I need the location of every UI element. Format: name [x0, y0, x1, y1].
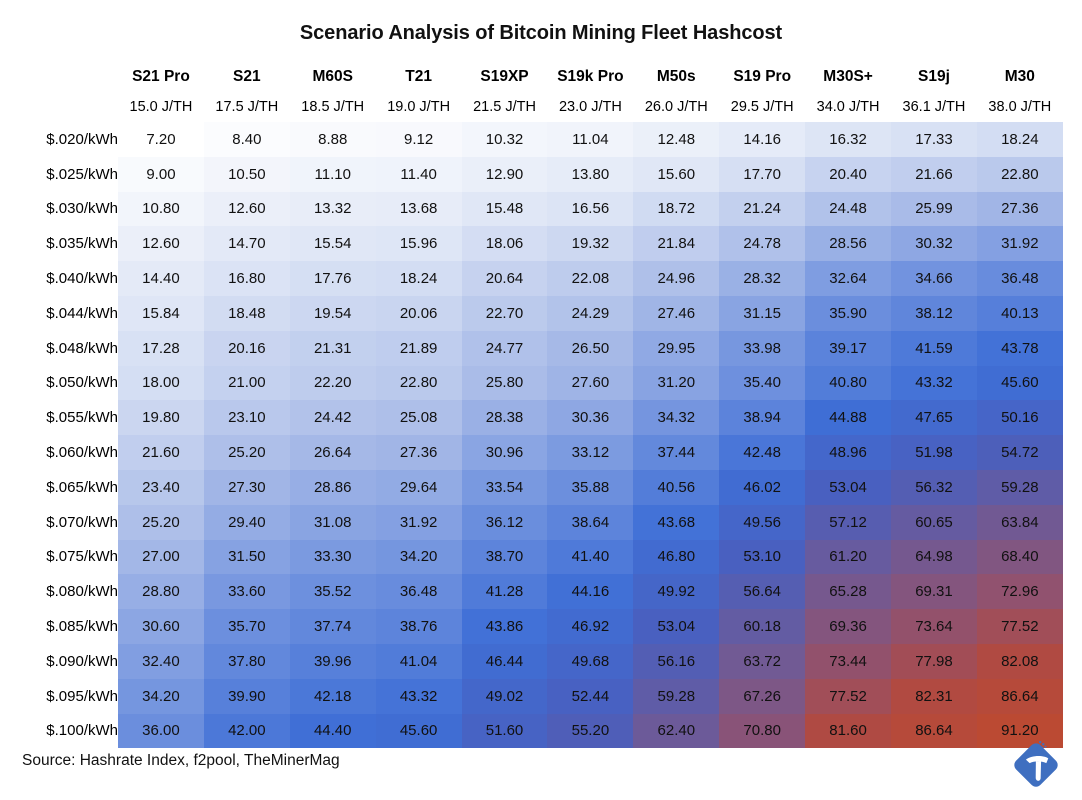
heatmap-cell: 16.56: [547, 192, 633, 227]
heatmap-cell: 31.92: [376, 505, 462, 540]
heatmap-cell: 21.84: [633, 226, 719, 261]
heatmap-cell: 42.18: [290, 679, 376, 714]
heatmap-cell: 43.32: [376, 679, 462, 714]
heatmap-cell: 81.60: [805, 714, 891, 749]
theminermag-logo: [1010, 738, 1062, 790]
heatmap-cell: 63.72: [719, 644, 805, 679]
heatmap-cell: 31.50: [204, 540, 290, 575]
row-header-power-price: $.075/kWh: [0, 540, 118, 575]
heatmap-cell: 30.96: [462, 435, 548, 470]
heatmap-cell: 43.86: [462, 609, 548, 644]
heatmap-cell: 38.76: [376, 609, 462, 644]
heatmap-cell: 22.80: [977, 157, 1063, 192]
heatmap-cell: 17.28: [118, 331, 204, 366]
heatmap-cell: 24.96: [633, 261, 719, 296]
column-header-efficiency: 34.0 J/TH: [805, 92, 891, 122]
heatmap-cell: 15.96: [376, 226, 462, 261]
heatmap-cell: 24.29: [547, 296, 633, 331]
heatmap-cell: 35.88: [547, 470, 633, 505]
page-title: Scenario Analysis of Bitcoin Mining Flee…: [0, 22, 1082, 45]
heatmap-cell: 17.76: [290, 261, 376, 296]
heatmap-cell: 33.54: [462, 470, 548, 505]
row-header-power-price: $.040/kWh: [0, 261, 118, 296]
heatmap-cell: 43.78: [977, 331, 1063, 366]
heatmap-cell: 82.31: [891, 679, 977, 714]
heatmap-cell: 15.54: [290, 226, 376, 261]
heatmap-cell: 7.20: [118, 122, 204, 157]
heatmap-cell: 65.28: [805, 574, 891, 609]
heatmap-cell: 28.38: [462, 400, 548, 435]
heatmap-cell: 35.70: [204, 609, 290, 644]
column-header-efficiency: 15.0 J/TH: [118, 92, 204, 122]
table-row: $.090/kWh32.4037.8039.9641.0446.4449.685…: [0, 644, 1063, 679]
column-header-efficiency: 38.0 J/TH: [977, 92, 1063, 122]
table-body: $.020/kWh7.208.408.889.1210.3211.0412.48…: [0, 122, 1063, 748]
heatmap-cell: 61.20: [805, 540, 891, 575]
heatmap-cell: 14.16: [719, 122, 805, 157]
heatmap-cell: 73.64: [891, 609, 977, 644]
heatmap-cell: 50.16: [977, 400, 1063, 435]
heatmap-cell: 19.80: [118, 400, 204, 435]
row-header-power-price: $.035/kWh: [0, 226, 118, 261]
column-header-efficiency: 23.0 J/TH: [547, 92, 633, 122]
source-note: Source: Hashrate Index, f2pool, TheMiner…: [22, 752, 340, 770]
heatmap-cell: 47.65: [891, 400, 977, 435]
heatmap-cell: 33.30: [290, 540, 376, 575]
heatmap-cell: 56.64: [719, 574, 805, 609]
column-header-model: M30: [977, 62, 1063, 92]
heatmap-cell: 22.80: [376, 366, 462, 401]
table-row: $.070/kWh25.2029.4031.0831.9236.1238.644…: [0, 505, 1063, 540]
heatmap-page: Scenario Analysis of Bitcoin Mining Flee…: [0, 0, 1082, 800]
heatmap-cell: 40.13: [977, 296, 1063, 331]
heatmap-cell: 21.89: [376, 331, 462, 366]
heatmap-cell: 11.40: [376, 157, 462, 192]
heatmap-cell: 41.28: [462, 574, 548, 609]
heatmap-cell: 29.95: [633, 331, 719, 366]
heatmap-cell: 34.20: [376, 540, 462, 575]
heatmap-cell: 24.42: [290, 400, 376, 435]
header-corner-cell: [0, 62, 118, 92]
heatmap-cell: 23.40: [118, 470, 204, 505]
heatmap-cell: 20.06: [376, 296, 462, 331]
heatmap-cell: 18.24: [376, 261, 462, 296]
heatmap-cell: 77.52: [977, 609, 1063, 644]
heatmap-cell: 13.32: [290, 192, 376, 227]
heatmap-cell: 63.84: [977, 505, 1063, 540]
table-row: $.050/kWh18.0021.0022.2022.8025.8027.603…: [0, 366, 1063, 401]
row-header-power-price: $.020/kWh: [0, 122, 118, 157]
heatmap-cell: 41.04: [376, 644, 462, 679]
column-header-model: S19XP: [462, 62, 548, 92]
heatmap-cell: 30.60: [118, 609, 204, 644]
heatmap-cell: 37.80: [204, 644, 290, 679]
table-header: S21 ProS21M60ST21S19XPS19k ProM50sS19 Pr…: [0, 62, 1063, 122]
heatmap-cell: 25.08: [376, 400, 462, 435]
heatmap-cell: 31.20: [633, 366, 719, 401]
heatmap-cell: 15.84: [118, 296, 204, 331]
column-header-efficiency: 36.1 J/TH: [891, 92, 977, 122]
heatmap-cell: 56.32: [891, 470, 977, 505]
heatmap-cell: 46.44: [462, 644, 548, 679]
column-header-model: M50s: [633, 62, 719, 92]
header-row-models: S21 ProS21M60ST21S19XPS19k ProM50sS19 Pr…: [0, 62, 1063, 92]
row-header-power-price: $.050/kWh: [0, 366, 118, 401]
row-header-power-price: $.044/kWh: [0, 296, 118, 331]
heatmap-cell: 62.40: [633, 714, 719, 749]
column-header-model: T21: [376, 62, 462, 92]
heatmap-cell: 9.00: [118, 157, 204, 192]
heatmap-cell: 73.44: [805, 644, 891, 679]
heatmap-cell: 13.68: [376, 192, 462, 227]
table-row: $.095/kWh34.2039.9042.1843.3249.0252.445…: [0, 679, 1063, 714]
heatmap-cell: 45.60: [376, 714, 462, 749]
heatmap-cell: 12.60: [118, 226, 204, 261]
heatmap-cell: 31.15: [719, 296, 805, 331]
heatmap-cell: 22.08: [547, 261, 633, 296]
heatmap-cell: 30.36: [547, 400, 633, 435]
heatmap-cell: 21.00: [204, 366, 290, 401]
row-header-power-price: $.095/kWh: [0, 679, 118, 714]
heatmap-cell: 39.90: [204, 679, 290, 714]
column-header-model: S21 Pro: [118, 62, 204, 92]
heatmap-cell: 27.46: [633, 296, 719, 331]
column-header-efficiency: 29.5 J/TH: [719, 92, 805, 122]
heatmap-cell: 32.64: [805, 261, 891, 296]
heatmap-cell: 40.80: [805, 366, 891, 401]
heatmap-cell: 33.98: [719, 331, 805, 366]
heatmap-cell: 20.16: [204, 331, 290, 366]
heatmap-cell: 48.96: [805, 435, 891, 470]
heatmap-cell: 72.96: [977, 574, 1063, 609]
row-header-power-price: $.025/kWh: [0, 157, 118, 192]
table-row: $.025/kWh9.0010.5011.1011.4012.9013.8015…: [0, 157, 1063, 192]
heatmap-cell: 24.48: [805, 192, 891, 227]
row-header-power-price: $.080/kWh: [0, 574, 118, 609]
heatmap-cell: 82.08: [977, 644, 1063, 679]
column-header-model: S21: [204, 62, 290, 92]
row-header-power-price: $.030/kWh: [0, 192, 118, 227]
heatmap-cell: 21.24: [719, 192, 805, 227]
heatmap-cell: 39.17: [805, 331, 891, 366]
heatmap-cell: 11.04: [547, 122, 633, 157]
heatmap-cell: 49.68: [547, 644, 633, 679]
heatmap-cell: 8.40: [204, 122, 290, 157]
heatmap-cell: 35.90: [805, 296, 891, 331]
heatmap-cell: 16.32: [805, 122, 891, 157]
heatmap-cell: 22.70: [462, 296, 548, 331]
heatmap-cell: 36.48: [977, 261, 1063, 296]
table-row: $.065/kWh23.4027.3028.8629.6433.5435.884…: [0, 470, 1063, 505]
heatmap-cell: 38.94: [719, 400, 805, 435]
row-header-power-price: $.048/kWh: [0, 331, 118, 366]
heatmap-cell: 9.12: [376, 122, 462, 157]
heatmap-cell: 25.99: [891, 192, 977, 227]
heatmap-cell: 20.40: [805, 157, 891, 192]
heatmap-cell: 18.48: [204, 296, 290, 331]
heatmap-cell: 12.48: [633, 122, 719, 157]
heatmap-cell: 38.70: [462, 540, 548, 575]
heatmap-cell: 25.80: [462, 366, 548, 401]
heatmap-cell: 60.65: [891, 505, 977, 540]
heatmap-cell: 18.06: [462, 226, 548, 261]
heatmap-cell: 55.20: [547, 714, 633, 749]
table-row: $.100/kWh36.0042.0044.4045.6051.6055.206…: [0, 714, 1063, 749]
heatmap-cell: 38.64: [547, 505, 633, 540]
heatmap-cell: 60.18: [719, 609, 805, 644]
heatmap-cell: 69.31: [891, 574, 977, 609]
heatmap-cell: 41.40: [547, 540, 633, 575]
column-header-efficiency: 17.5 J/TH: [204, 92, 290, 122]
heatmap-cell: 14.70: [204, 226, 290, 261]
heatmap-cell: 67.26: [719, 679, 805, 714]
heatmap-cell: 59.28: [633, 679, 719, 714]
heatmap-cell: 18.00: [118, 366, 204, 401]
heatmap-cell: 53.04: [633, 609, 719, 644]
heatmap-cell: 41.59: [891, 331, 977, 366]
column-header-model: M60S: [290, 62, 376, 92]
row-header-power-price: $.090/kWh: [0, 644, 118, 679]
heatmap-cell: 49.02: [462, 679, 548, 714]
heatmap-cell: 10.80: [118, 192, 204, 227]
heatmap-cell: 10.32: [462, 122, 548, 157]
heatmap-cell: 25.20: [118, 505, 204, 540]
heatmap-cell: 8.88: [290, 122, 376, 157]
heatmap-cell: 28.32: [719, 261, 805, 296]
heatmap-cell: 26.64: [290, 435, 376, 470]
column-header-efficiency: 26.0 J/TH: [633, 92, 719, 122]
hashcost-heatmap-table: S21 ProS21M60ST21S19XPS19k ProM50sS19 Pr…: [0, 62, 1063, 748]
heatmap-cell: 43.68: [633, 505, 719, 540]
heatmap-cell: 27.60: [547, 366, 633, 401]
heatmap-cell: 29.40: [204, 505, 290, 540]
heatmap-cell: 39.96: [290, 644, 376, 679]
heatmap-cell: 37.74: [290, 609, 376, 644]
heatmap-cell: 13.80: [547, 157, 633, 192]
row-header-power-price: $.060/kWh: [0, 435, 118, 470]
heatmap-cell: 36.12: [462, 505, 548, 540]
heatmap-cell: 86.64: [977, 679, 1063, 714]
heatmap-cell: 53.10: [719, 540, 805, 575]
heatmap-cell: 27.36: [977, 192, 1063, 227]
heatmap-cell: 31.92: [977, 226, 1063, 261]
heatmap-cell: 25.20: [204, 435, 290, 470]
table-row: $.020/kWh7.208.408.889.1210.3211.0412.48…: [0, 122, 1063, 157]
heatmap-cell: 11.10: [290, 157, 376, 192]
heatmap-cell: 15.60: [633, 157, 719, 192]
heatmap-cell: 28.56: [805, 226, 891, 261]
heatmap-cell: 17.33: [891, 122, 977, 157]
heatmap-cell: 28.86: [290, 470, 376, 505]
row-header-power-price: $.065/kWh: [0, 470, 118, 505]
heatmap-cell: 69.36: [805, 609, 891, 644]
heatmap-cell: 33.60: [204, 574, 290, 609]
column-header-efficiency: 19.0 J/TH: [376, 92, 462, 122]
heatmap-cell: 21.60: [118, 435, 204, 470]
heatmap-cell: 57.12: [805, 505, 891, 540]
heatmap-cell: 33.12: [547, 435, 633, 470]
heatmap-cell: 68.40: [977, 540, 1063, 575]
heatmap-cell: 77.98: [891, 644, 977, 679]
heatmap-cell: 54.72: [977, 435, 1063, 470]
heatmap-cell: 26.50: [547, 331, 633, 366]
heatmap-cell: 46.02: [719, 470, 805, 505]
heatmap-cell: 22.20: [290, 366, 376, 401]
heatmap-cell: 35.40: [719, 366, 805, 401]
heatmap-cell: 32.40: [118, 644, 204, 679]
heatmap-cell: 46.92: [547, 609, 633, 644]
heatmap-cell: 21.31: [290, 331, 376, 366]
table-row: $.048/kWh17.2820.1621.3121.8924.7726.502…: [0, 331, 1063, 366]
table-row: $.075/kWh27.0031.5033.3034.2038.7041.404…: [0, 540, 1063, 575]
heatmap-cell: 38.12: [891, 296, 977, 331]
heatmap-cell: 53.04: [805, 470, 891, 505]
heatmap-cell: 51.60: [462, 714, 548, 749]
row-header-power-price: $.055/kWh: [0, 400, 118, 435]
table-row: $.035/kWh12.6014.7015.5415.9618.0619.322…: [0, 226, 1063, 261]
heatmap-cell: 37.44: [633, 435, 719, 470]
heatmap-cell: 15.48: [462, 192, 548, 227]
heatmap-cell: 14.40: [118, 261, 204, 296]
heatmap-cell: 17.70: [719, 157, 805, 192]
table-row: $.080/kWh28.8033.6035.5236.4841.2844.164…: [0, 574, 1063, 609]
heatmap-cell: 56.16: [633, 644, 719, 679]
heatmap-cell: 27.00: [118, 540, 204, 575]
heatmap-cell: 24.78: [719, 226, 805, 261]
row-header-power-price: $.070/kWh: [0, 505, 118, 540]
heatmap-cell: 18.72: [633, 192, 719, 227]
heatmap-cell: 51.98: [891, 435, 977, 470]
heatmap-cell: 18.24: [977, 122, 1063, 157]
heatmap-cell: 42.48: [719, 435, 805, 470]
column-header-model: M30S+: [805, 62, 891, 92]
table-row: $.085/kWh30.6035.7037.7438.7643.8646.925…: [0, 609, 1063, 644]
table-row: $.040/kWh14.4016.8017.7618.2420.6422.082…: [0, 261, 1063, 296]
heatmap-cell: 12.60: [204, 192, 290, 227]
heatmap-cell: 70.80: [719, 714, 805, 749]
header-corner-cell-2: [0, 92, 118, 122]
heatmap-cell: 45.60: [977, 366, 1063, 401]
heatmap-cell: 23.10: [204, 400, 290, 435]
heatmap-cell: 31.08: [290, 505, 376, 540]
row-header-power-price: $.085/kWh: [0, 609, 118, 644]
heatmap-cell: 59.28: [977, 470, 1063, 505]
table-row: $.044/kWh15.8418.4819.5420.0622.7024.292…: [0, 296, 1063, 331]
heatmap-cell: 86.64: [891, 714, 977, 749]
column-header-model: S19k Pro: [547, 62, 633, 92]
table-row: $.030/kWh10.8012.6013.3213.6815.4816.561…: [0, 192, 1063, 227]
heatmap-cell: 49.92: [633, 574, 719, 609]
heatmap-cell: 30.32: [891, 226, 977, 261]
heatmap-cell: 36.48: [376, 574, 462, 609]
heatmap-cell: 16.80: [204, 261, 290, 296]
heatmap-cell: 64.98: [891, 540, 977, 575]
heatmap-cell: 34.32: [633, 400, 719, 435]
heatmap-cell: 34.20: [118, 679, 204, 714]
heatmap-cell: 36.00: [118, 714, 204, 749]
heatmap-cell: 28.80: [118, 574, 204, 609]
heatmap-cell: 42.00: [204, 714, 290, 749]
heatmap-cell: 19.54: [290, 296, 376, 331]
heatmap-cell: 21.66: [891, 157, 977, 192]
row-header-power-price: $.100/kWh: [0, 714, 118, 749]
column-header-efficiency: 18.5 J/TH: [290, 92, 376, 122]
heatmap-cell: 49.56: [719, 505, 805, 540]
heatmap-cell: 10.50: [204, 157, 290, 192]
heatmap-cell: 27.36: [376, 435, 462, 470]
heatmap-cell: 19.32: [547, 226, 633, 261]
heatmap-cell: 40.56: [633, 470, 719, 505]
header-row-efficiency: 15.0 J/TH17.5 J/TH18.5 J/TH19.0 J/TH21.5…: [0, 92, 1063, 122]
heatmap-cell: 24.77: [462, 331, 548, 366]
heatmap-cell: 12.90: [462, 157, 548, 192]
heatmap-cell: 20.64: [462, 261, 548, 296]
column-header-efficiency: 21.5 J/TH: [462, 92, 548, 122]
heatmap-cell: 35.52: [290, 574, 376, 609]
heatmap-cell: 44.16: [547, 574, 633, 609]
column-header-model: S19j: [891, 62, 977, 92]
heatmap-cell: 43.32: [891, 366, 977, 401]
heatmap-cell: 52.44: [547, 679, 633, 714]
column-header-model: S19 Pro: [719, 62, 805, 92]
heatmap-cell: 34.66: [891, 261, 977, 296]
heatmap-cell: 46.80: [633, 540, 719, 575]
heatmap-cell: 29.64: [376, 470, 462, 505]
table-row: $.060/kWh21.6025.2026.6427.3630.9633.123…: [0, 435, 1063, 470]
heatmap-cell: 27.30: [204, 470, 290, 505]
heatmap-cell: 77.52: [805, 679, 891, 714]
heatmap-cell: 44.88: [805, 400, 891, 435]
heatmap-cell: 44.40: [290, 714, 376, 749]
table-row: $.055/kWh19.8023.1024.4225.0828.3830.363…: [0, 400, 1063, 435]
